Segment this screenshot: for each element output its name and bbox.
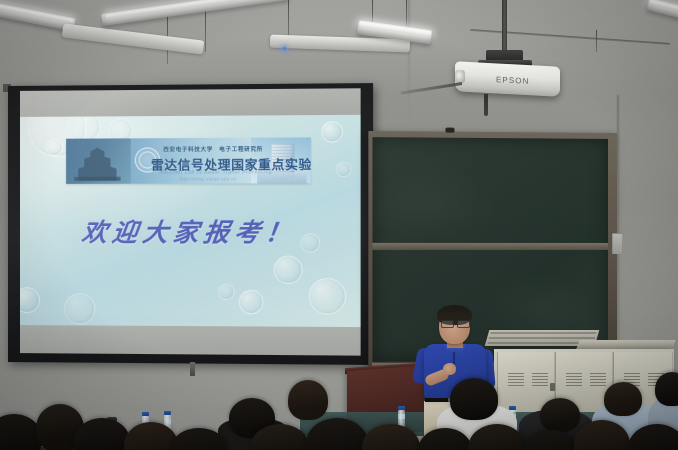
screen-letterbox-bottom	[20, 325, 361, 356]
locker-handle[interactable]	[550, 383, 555, 391]
bubble-decoration	[46, 139, 63, 156]
eyeglasses-icon	[441, 320, 468, 326]
projector-lens	[455, 70, 465, 83]
audience-head	[288, 380, 328, 420]
projector-mount-pole	[502, 0, 507, 52]
screen-letterbox-top	[20, 88, 361, 117]
bubble-decoration	[218, 284, 234, 300]
locker-vent	[508, 373, 524, 386]
banner-url: http://nlrsp.xidian.edu.cn	[179, 176, 236, 181]
banner-institution-line: 西安电子科技大学 电子工程研究所	[163, 145, 263, 154]
light-hanger	[406, 0, 407, 26]
screen-weight-bar	[190, 362, 195, 376]
projection-screen[interactable]: 西安电子科技大学 电子工程研究所 雷达信号处理国家重点实验室 National …	[8, 83, 373, 365]
blackboard-divider	[372, 243, 608, 250]
presentation-slide: 西安电子科技大学 电子工程研究所 雷达信号处理国家重点实验室 National …	[20, 115, 361, 327]
locker-vent	[532, 373, 548, 386]
locker-vent	[566, 373, 582, 386]
bubble-decoration	[336, 162, 352, 177]
audience-head	[655, 372, 678, 406]
projector-brand-label: EPSON	[496, 75, 530, 86]
bubble-decoration	[64, 293, 95, 324]
light-hanger	[205, 8, 206, 52]
speaker-gesturing-hand	[443, 363, 456, 375]
slide-headline: 欢迎大家报考！	[20, 213, 361, 250]
banner-left-panel	[66, 138, 131, 183]
blackboard-clip	[445, 128, 454, 133]
audience-head	[540, 398, 580, 432]
bubble-decoration	[321, 121, 343, 143]
wall-seam	[617, 95, 619, 360]
lecture-hall-photo: EPSON	[0, 0, 678, 450]
indicator-led	[283, 47, 286, 50]
bubble-decoration	[20, 287, 40, 313]
banner-english-subtitle: National Lab of Radar Signal Processing	[159, 169, 272, 175]
bubble-decoration	[309, 278, 346, 315]
locker-vent	[590, 373, 606, 386]
wall-seam-upper	[408, 0, 410, 120]
light-hanger	[596, 30, 597, 52]
locker-top-surface	[576, 340, 676, 349]
projector-cable	[484, 94, 488, 116]
bubble-decoration	[239, 290, 264, 314]
audience-head	[450, 378, 498, 420]
slide-banner: 西安电子科技大学 电子工程研究所 雷达信号处理国家重点实验室 National …	[66, 138, 311, 184]
bubble-decoration	[274, 255, 303, 284]
screen-canvas: 西安电子科技大学 电子工程研究所 雷达信号处理国家重点实验室 National …	[20, 88, 361, 355]
audience-head	[604, 382, 642, 416]
pagoda-silhouette-icon	[74, 146, 120, 180]
light-switch[interactable]	[612, 233, 623, 254]
